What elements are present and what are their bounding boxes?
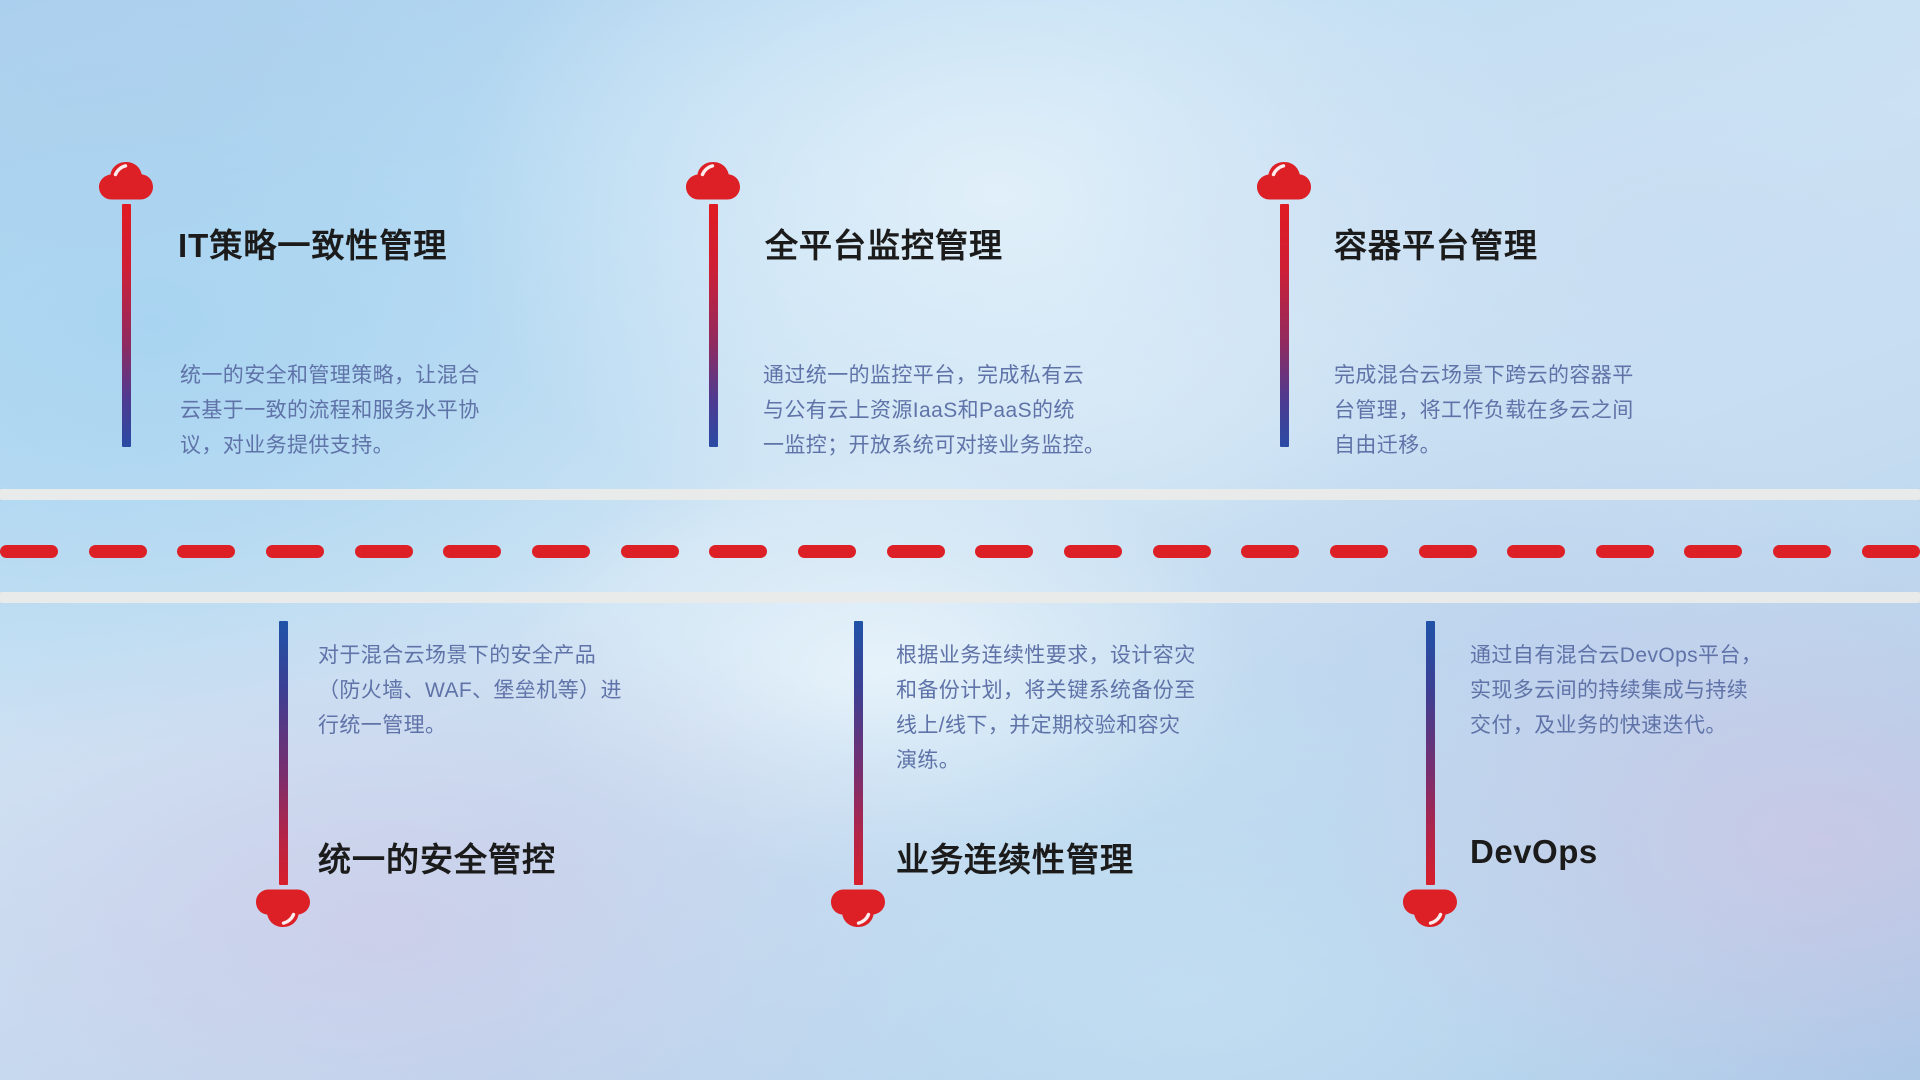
road-dash <box>1773 545 1831 558</box>
infographic-canvas: IT策略一致性管理 统一的安全和管理策略，让混合 云基于一致的流程和服务水平协 … <box>0 0 1920 1080</box>
road-dash <box>709 545 767 558</box>
road-dash <box>0 545 58 558</box>
road-dash <box>1064 545 1122 558</box>
pin-stem <box>1280 204 1289 447</box>
pin-top-3-title: 容器平台管理 <box>1334 219 1538 267</box>
road-dash <box>1507 545 1565 558</box>
road-dash <box>887 545 945 558</box>
cloud-pin-icon <box>96 160 156 204</box>
road-dash <box>89 545 147 558</box>
pin-top-2[interactable] <box>683 160 743 447</box>
pin-top-2-body: 通过统一的监控平台，完成私有云 与公有云上资源IaaS和PaaS的统 一监控；开… <box>763 358 1223 463</box>
pin-stem <box>279 621 288 885</box>
road-dash <box>1684 545 1742 558</box>
pin-stem <box>1426 621 1435 885</box>
pin-top-1-title: IT策略一致性管理 <box>178 219 447 267</box>
road-dash <box>798 545 856 558</box>
cloud-pin-icon <box>1254 160 1314 204</box>
road-edge-top <box>0 489 1920 500</box>
road-dash <box>1419 545 1477 558</box>
pin-stem <box>709 204 718 447</box>
pin-bottom-2-body: 根据业务连续性要求，设计容灾 和备份计划，将关键系统备份至 线上/线下，并定期校… <box>896 638 1336 778</box>
pin-top-2-title: 全平台监控管理 <box>765 219 1003 267</box>
pin-stem <box>854 621 863 885</box>
road-dash <box>621 545 679 558</box>
road-dash <box>532 545 590 558</box>
pin-bottom-2-title: 业务连续性管理 <box>896 833 1134 881</box>
road-dash <box>443 545 501 558</box>
road-dash <box>1862 545 1920 558</box>
pin-top-3-body: 完成混合云场景下跨云的容器平 台管理，将工作负载在多云之间 自由迁移。 <box>1334 358 1774 463</box>
cloud-pin-icon <box>683 160 743 204</box>
road-dash <box>177 545 235 558</box>
road-dash <box>1241 545 1299 558</box>
road-dash <box>1330 545 1388 558</box>
road-dash <box>975 545 1033 558</box>
cloud-pin-icon <box>253 885 313 929</box>
pin-bottom-3[interactable] <box>1400 621 1460 929</box>
cloud-pin-icon <box>1400 885 1460 929</box>
road-dash <box>1153 545 1211 558</box>
pin-bottom-3-body: 通过自有混合云DevOps平台， 实现多云间的持续集成与持续 交付，及业务的快速… <box>1470 638 1900 743</box>
road-center-dashes <box>0 545 1920 558</box>
pin-bottom-1[interactable] <box>253 621 313 929</box>
pin-bottom-1-title: 统一的安全管控 <box>318 833 556 881</box>
pin-top-1-body: 统一的安全和管理策略，让混合 云基于一致的流程和服务水平协 议，对业务提供支持。 <box>180 358 610 463</box>
pin-top-3[interactable] <box>1254 160 1314 447</box>
road-edge-bottom <box>0 592 1920 603</box>
pin-top-1[interactable] <box>96 160 156 447</box>
road-dash <box>1596 545 1654 558</box>
pin-bottom-1-body: 对于混合云场景下的安全产品 （防火墙、WAF、堡垒机等）进 行统一管理。 <box>318 638 748 743</box>
cloud-pin-icon <box>828 885 888 929</box>
pin-bottom-3-title: DevOps <box>1470 833 1598 871</box>
pin-stem <box>122 204 131 447</box>
road-dash <box>355 545 413 558</box>
pin-bottom-2[interactable] <box>828 621 888 929</box>
road-dash <box>266 545 324 558</box>
